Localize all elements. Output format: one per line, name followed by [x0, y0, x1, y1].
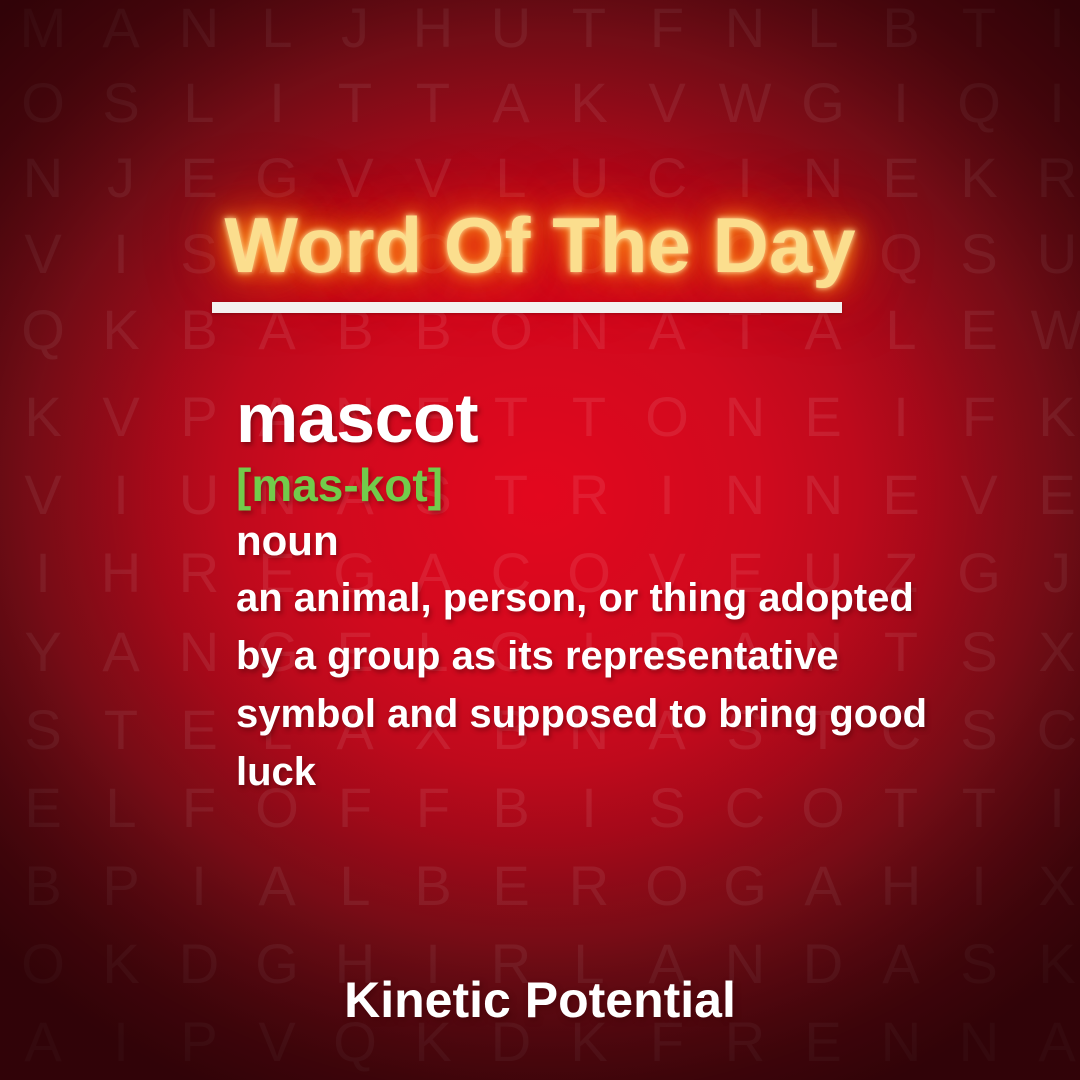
title-block: Word Of The Day	[0, 206, 1080, 284]
entry-definition: an animal, person, or thing adopted by a…	[236, 569, 936, 801]
card-content: Word Of The Day mascot [mas-kot] noun an…	[0, 0, 1080, 1080]
page-title: Word Of The Day	[224, 206, 855, 284]
word-of-the-day-card: MANLJHUTFNLBTIOSLITTAKVWGIQINJEGVVLUCINE…	[0, 0, 1080, 1080]
entry-pronunciation: [mas-kot]	[236, 461, 996, 509]
dictionary-entry: mascot [mas-kot] noun an animal, person,…	[236, 383, 996, 801]
title-underline	[212, 302, 842, 313]
footer: Kinetic Potential	[0, 975, 1080, 1025]
entry-part-of-speech: noun	[236, 519, 996, 563]
entry-word: mascot	[236, 383, 996, 453]
brand-name: Kinetic Potential	[344, 975, 736, 1025]
